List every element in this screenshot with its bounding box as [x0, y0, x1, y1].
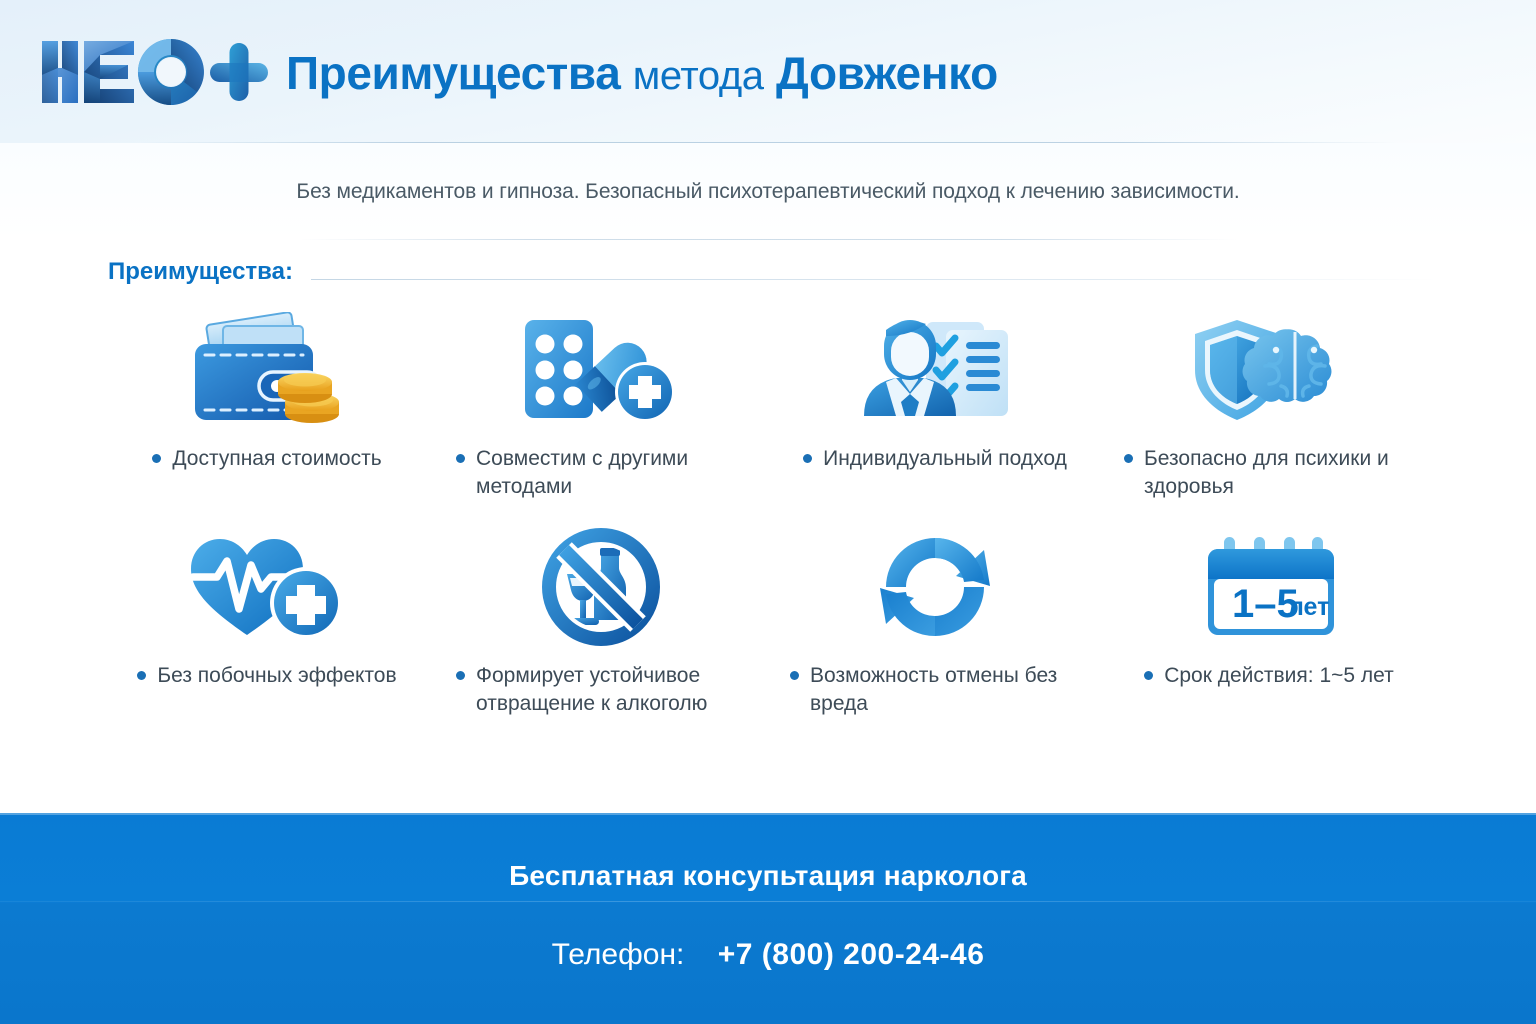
- bullet-icon: [137, 671, 146, 680]
- doctor-checklist-icon: [850, 312, 1020, 428]
- benefit-item-3: Индивидуальный подход: [768, 305, 1102, 500]
- heart-pulse-cross-icon: [183, 531, 351, 643]
- benefit-icon-4: [1102, 305, 1436, 435]
- calendar-years-icon: 1–5 лет: [1196, 531, 1342, 643]
- benefit-caption-6: Формирует устойчивое отвращение к алкого…: [450, 662, 752, 717]
- bullet-icon: [456, 454, 465, 463]
- benefit-caption-4: Безопасно для психики и здоровья: [1118, 445, 1420, 500]
- no-alcohol-icon: [539, 528, 663, 646]
- footer-headline: Бесплатная консупьтация нарколога: [0, 860, 1536, 892]
- bullet-icon: [1144, 671, 1153, 680]
- bullet-icon: [1124, 454, 1133, 463]
- benefit-label-4: Безопасно для психики и здоровья: [1144, 445, 1414, 500]
- benefit-icon-7: [768, 522, 1102, 652]
- benefit-label-8: Срок действия: 1~5 лет: [1164, 662, 1394, 690]
- benefit-icon-2: [434, 305, 768, 435]
- benefit-item-5: Без побочных эффектов: [100, 522, 434, 717]
- bullet-icon: [803, 454, 812, 463]
- benefit-label-7: Возможность отмены без вреда: [810, 662, 1080, 717]
- benefit-icon-1: [100, 305, 434, 435]
- benefit-caption-2: Совместим с другими методами: [450, 445, 752, 500]
- section-divider: [311, 279, 1438, 280]
- bullet-icon: [790, 671, 799, 680]
- infographic-poster: Преимущества метода Довженко Без медикам…: [0, 0, 1536, 1024]
- benefits-grid: Доступная стоимость: [100, 305, 1436, 718]
- phone-label: Телефон:: [552, 938, 685, 971]
- benefit-caption-8: Срок действия: 1~5 лет: [1138, 662, 1400, 690]
- benefits-row-2: Без побочных эффектов: [100, 522, 1436, 717]
- pills-capsule-cross-icon: [517, 312, 685, 428]
- title-part-1: Преимущества: [286, 47, 620, 99]
- refresh-cycle-icon: [873, 530, 997, 644]
- benefit-caption-1: Доступная стоимость: [146, 445, 387, 473]
- benefit-label-1: Доступная стоимость: [172, 445, 381, 473]
- title-part-2: метода: [633, 54, 764, 98]
- bullet-icon: [152, 454, 161, 463]
- benefit-icon-6: [434, 522, 768, 652]
- benefits-row-1: Доступная стоимость: [100, 305, 1436, 500]
- footer-divider: [0, 901, 1536, 902]
- page-title: Преимущества метода Довженко: [286, 50, 998, 96]
- shield-brain-icon: [1187, 312, 1351, 428]
- benefit-icon-3: [768, 305, 1102, 435]
- title-part-3: Довженко: [776, 47, 998, 99]
- benefit-label-3: Индивидуальный подход: [823, 445, 1067, 473]
- calendar-unit-text: лет: [1288, 593, 1329, 621]
- subtitle-text: Без медикаментов и гипноза. Безопасный п…: [296, 180, 1239, 204]
- benefit-label-5: Без побочных эффектов: [157, 662, 396, 690]
- header: Преимущества метода Довженко: [0, 0, 1536, 143]
- footer-cta-band: Бесплатная консупьтация нарколога Телефо…: [0, 813, 1536, 1024]
- benefit-item-1: Доступная стоимость: [100, 305, 434, 500]
- subtitle-bar: Без медикаментов и гипноза. Безопасный п…: [0, 143, 1536, 240]
- section-label: Преимущества:: [108, 258, 293, 286]
- benefit-item-6: Формирует устойчивое отвращение к алкого…: [434, 522, 768, 717]
- benefit-item-4: Безопасно для психики и здоровья: [1102, 305, 1436, 500]
- benefit-icon-8: 1–5 лет: [1102, 522, 1436, 652]
- phone-number[interactable]: +7 (800) 200-24-46: [718, 938, 985, 971]
- benefit-item-2: Совместим с другими методами: [434, 305, 768, 500]
- benefit-label-2: Совместим с другими методами: [476, 445, 746, 500]
- benefit-item-7: Возможность отмены без вреда: [768, 522, 1102, 717]
- benefit-caption-7: Возможность отмены без вреда: [784, 662, 1086, 717]
- wallet-coins-icon: [181, 312, 353, 428]
- bullet-icon: [456, 671, 465, 680]
- neo-plus-logo: [38, 35, 270, 109]
- section-heading: Преимущества:: [108, 258, 1438, 286]
- footer-phone-row: Телефон: +7 (800) 200-24-46: [0, 938, 1536, 972]
- benefit-caption-5: Без побочных эффектов: [131, 662, 402, 690]
- benefit-label-6: Формирует устойчивое отвращение к алкого…: [476, 662, 746, 717]
- benefit-caption-3: Индивидуальный подход: [797, 445, 1073, 473]
- benefit-icon-5: [100, 522, 434, 652]
- benefit-item-8: 1–5 лет Срок действия: 1~5 лет: [1102, 522, 1436, 717]
